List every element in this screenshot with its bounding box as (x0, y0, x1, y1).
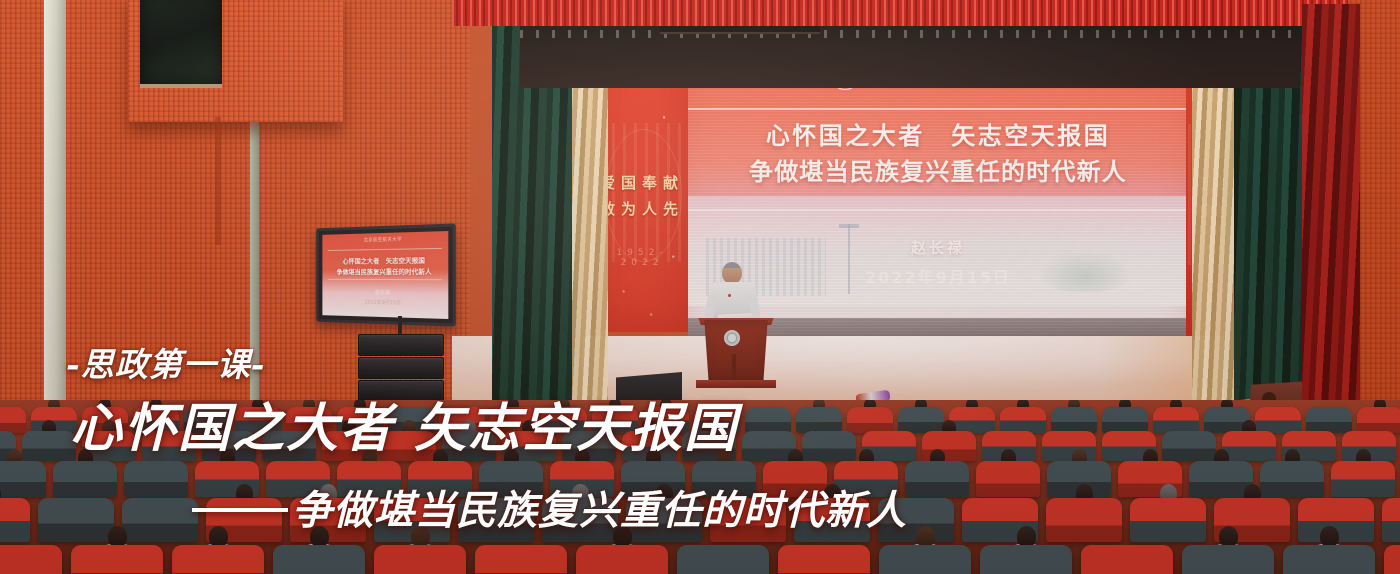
auditorium-seat (273, 545, 365, 574)
auditorium-seat (692, 461, 756, 497)
auditorium-seat (0, 545, 62, 574)
auditorium-seat (53, 461, 117, 497)
auditorium-seat (124, 461, 188, 497)
wall-monitor-speaker-name: 赵长禄 (322, 288, 448, 297)
auditorium-seat (1046, 498, 1122, 542)
wall-monitor-title-line-2: 争做堪当民族复兴重任的时代新人 (322, 266, 448, 276)
divider (328, 279, 442, 280)
auditorium-seat (834, 461, 898, 497)
auditorium-seat (763, 461, 827, 497)
auditorium-seat (710, 498, 786, 542)
auditorium-seat (38, 498, 114, 542)
truss-lamp-row (520, 30, 1300, 38)
auditorium-seat (142, 431, 196, 461)
auditorium-seat (1255, 407, 1301, 433)
banner-left-years: 1952-2022 (596, 248, 688, 268)
podium-body (700, 320, 772, 382)
auditorium-seat (1000, 407, 1046, 433)
auditorium-seat (1102, 407, 1148, 433)
auditorium-seat (235, 407, 281, 433)
auditorium-seat (1153, 407, 1199, 433)
auditorium-seat (374, 545, 466, 574)
auditorium-seat (382, 431, 436, 461)
banner-left-slogan-line-1: 爱国奉献 (596, 170, 688, 196)
auditorium-seat (408, 461, 472, 497)
lapel-badge (728, 294, 731, 297)
auditorium-seat (879, 545, 971, 574)
auditorium-seat (592, 407, 638, 433)
wall-monitor-title-line-1: 心怀国之大者 矢志空天报国 (322, 254, 448, 265)
auditorium-seat (0, 461, 46, 497)
auditorium-seat (1306, 407, 1352, 433)
auditorium-seat (1260, 461, 1324, 497)
auditorium-seat (1283, 545, 1375, 574)
auditorium-seat (905, 461, 969, 497)
auditorium-seat (542, 498, 618, 542)
auditorium-seat (337, 461, 401, 497)
auditorium-seat (0, 498, 30, 542)
auditorium-seat (458, 498, 534, 542)
lighting-truss (520, 16, 1300, 88)
auditorium-seat (122, 498, 198, 542)
speaker-cabinet (358, 357, 444, 379)
auditorium-seat (794, 498, 870, 542)
auditorium-seat (1222, 431, 1276, 461)
auditorium-seat (262, 431, 316, 461)
auditorium-seat (184, 407, 230, 433)
speaker-cabinet (358, 334, 444, 356)
auditorium-seat (1357, 407, 1400, 433)
control-room-window (140, 0, 222, 88)
podium-university-emblem-icon (724, 330, 740, 346)
auditorium-seat (22, 431, 76, 461)
auditorium-seat (576, 545, 668, 574)
auditorium-seat (286, 407, 332, 433)
auditorium-seat (745, 407, 791, 433)
auditorium-seat (71, 545, 163, 574)
auditorium-seat (1382, 498, 1400, 542)
auditorium-seat (1162, 431, 1216, 461)
slide-title-block: 心怀国之大者 矢志空天报国 争做堪当民族复兴重任的时代新人 (688, 118, 1188, 190)
speaker-head (722, 262, 742, 284)
wall-monitor-screen: 北京航空航天大学 心怀国之大者 矢志空天报国 争做堪当民族复兴重任的时代新人 赵… (322, 231, 448, 319)
auditorium-photo: 北京航空航天大学 心怀国之大者 矢志空天报国 争做堪当民族复兴重任的时代新人 赵… (0, 0, 1400, 574)
slide-divider-top (688, 108, 1188, 110)
divider (328, 248, 442, 251)
auditorium-seat (980, 545, 1072, 574)
stage-valance (452, 0, 1348, 26)
wall-monitor-date: 2022年9月15日 (322, 298, 448, 308)
speaker-at-podium (694, 262, 778, 392)
wall-mounted-monitor: 北京航空航天大学 心怀国之大者 矢志空天报国 争做堪当民族复兴重任的时代新人 赵… (316, 223, 456, 326)
auditorium-seat (677, 545, 769, 574)
banner-left-slogan-line-2: 敢为人先 (596, 196, 688, 222)
podium-base (696, 380, 776, 388)
auditorium-seat (898, 407, 944, 433)
slide-speaker-name: 赵长禄 (688, 237, 1188, 258)
auditorium-seat (541, 407, 587, 433)
auditorium-seat (847, 407, 893, 433)
auditorium-seat (475, 545, 567, 574)
auditorium-seat (621, 461, 685, 497)
auditorium-seat (172, 545, 264, 574)
auditorium-seat (1042, 431, 1096, 461)
auditorium-seat (1051, 407, 1097, 433)
auditorium-seat (802, 431, 856, 461)
auditorium-seat (1384, 545, 1400, 574)
audience-seating-area (0, 400, 1400, 574)
auditorium-seat (976, 461, 1040, 497)
auditorium-seat (479, 461, 543, 497)
slide-divider-bottom (688, 209, 1188, 211)
wall-monitor-university-name: 北京航空航天大学 (322, 235, 448, 244)
auditorium-seat (1130, 498, 1206, 542)
speaker-cabinet (358, 380, 444, 402)
slide-title-line-2: 争做堪当民族复兴重任的时代新人 (688, 154, 1188, 190)
auditorium-seat (1182, 545, 1274, 574)
wall-seam (215, 117, 221, 245)
auditorium-seat (442, 431, 496, 461)
auditorium-seat (626, 498, 702, 542)
auditorium-seat (0, 407, 26, 433)
banner-left-slogan: 爱国奉献 敢为人先 (596, 170, 688, 223)
auditorium-seat (1331, 461, 1395, 497)
auditorium-seat (796, 407, 842, 433)
auditorium-seat (778, 545, 870, 574)
auditorium-seat (1081, 545, 1173, 574)
auditorium-seat (694, 407, 740, 433)
slide-title-line-1: 心怀国之大者 矢志空天报国 (688, 118, 1188, 154)
speaker-mount (398, 316, 402, 336)
